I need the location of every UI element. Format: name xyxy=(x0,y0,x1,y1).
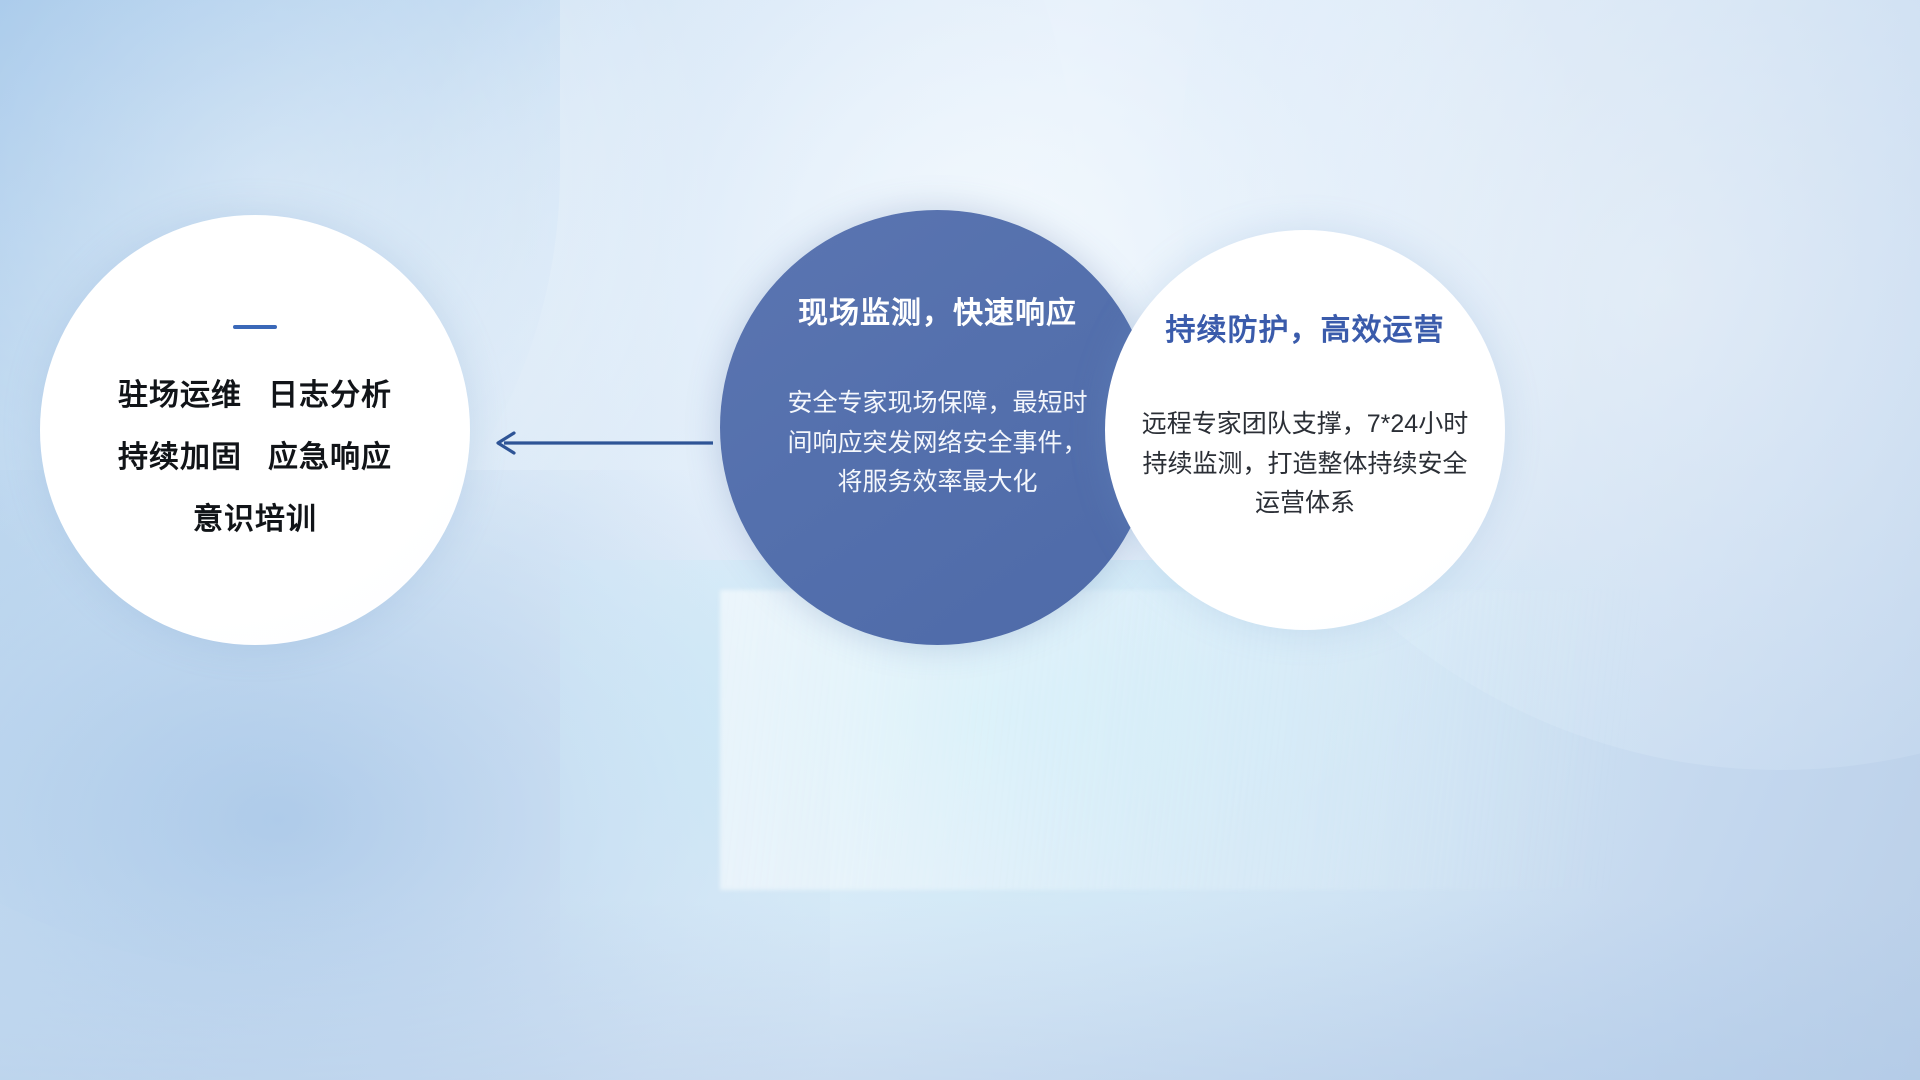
keyword-row-1: 驻场运维 日志分析 xyxy=(118,381,392,411)
keyword-spacer xyxy=(242,381,268,411)
divider-dash xyxy=(233,325,277,329)
keyword-label: 意识培训 xyxy=(193,505,317,535)
flow-arrow-icon xyxy=(488,428,713,458)
keyword-row-2: 持续加固 应急响应 xyxy=(118,443,392,473)
keyword-label: 持续加固 xyxy=(118,443,242,473)
keyword-spacer xyxy=(242,443,268,473)
keyword-row-3: 意识培训 xyxy=(193,505,317,535)
keyword-label: 驻场运维 xyxy=(118,381,242,411)
keyword-label: 日志分析 xyxy=(268,381,392,411)
keyword-label: 应急响应 xyxy=(268,443,392,473)
right-circle-body: 远程专家团队支撑，7*24小时持续监测，打造整体持续安全运营体系 xyxy=(1140,405,1470,524)
info-circle-right[interactable]: 持续防护，高效运营 远程专家团队支撑，7*24小时持续监测，打造整体持续安全运营… xyxy=(1105,230,1505,630)
right-circle-heading: 持续防护，高效运营 xyxy=(1166,305,1445,349)
middle-circle-body: 安全专家现场保障，最短时间响应突发网络安全事件，将服务效率最大化 xyxy=(788,384,1088,503)
info-circle-middle[interactable]: 现场监测，快速响应 安全专家现场保障，最短时间响应突发网络安全事件，将服务效率最… xyxy=(720,210,1155,645)
middle-circle-heading: 现场监测，快速响应 xyxy=(798,288,1077,332)
keyword-circle-left[interactable]: 驻场运维 日志分析 持续加固 应急响应 意识培训 xyxy=(40,215,470,645)
infographic-stage: 驻场运维 日志分析 持续加固 应急响应 意识培训 现场监测，快速响应 安全专家现… xyxy=(0,0,1920,1080)
